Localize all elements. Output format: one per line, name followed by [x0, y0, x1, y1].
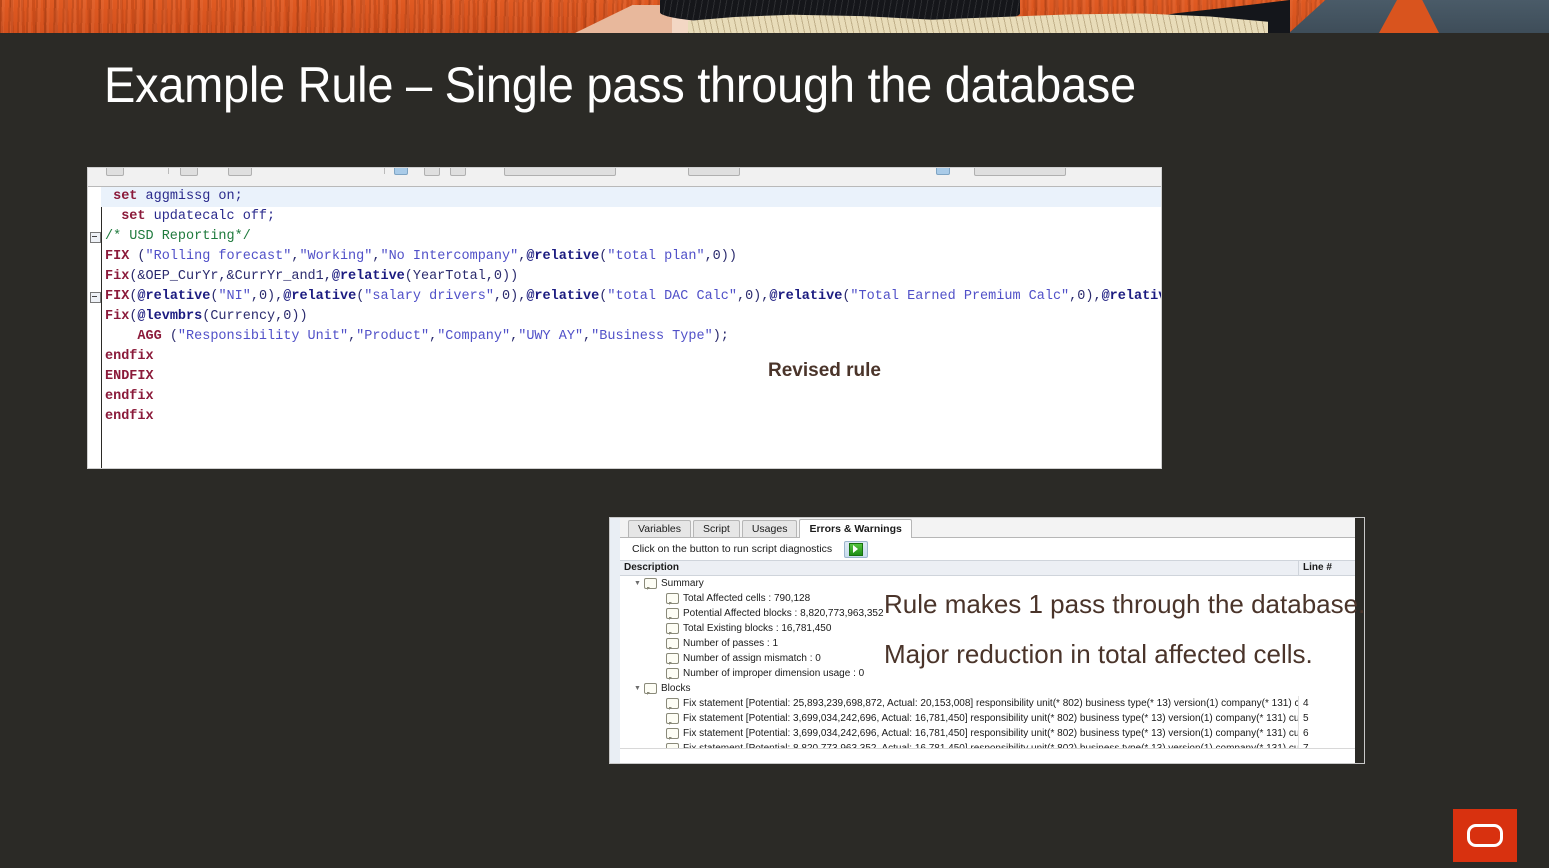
run-diagnostics-hint: Click on the button to run script diagno… [632, 543, 832, 555]
message-bubble-icon [666, 668, 679, 679]
toolbar-button [228, 168, 252, 176]
tree-row-label: ▼Blocks [620, 681, 1298, 696]
tab-variables[interactable]: Variables [628, 520, 691, 537]
tree-row-line-number: 5 [1298, 711, 1355, 726]
tab-script[interactable]: Script [693, 520, 740, 537]
column-header-line: Line # [1298, 561, 1355, 575]
code-line[interactable]: set aggmissg on; [101, 187, 1161, 207]
editor-gutter[interactable] [88, 187, 102, 468]
tree-row[interactable]: Total Existing blocks : 16,781,450 [620, 621, 1355, 636]
calc-script-editor-screenshot: set aggmissg on; set updatecalc off;/* U… [88, 168, 1161, 468]
tree-row-label: Total Existing blocks : 16,781,450 [620, 621, 1298, 636]
message-bubble-icon [666, 698, 679, 709]
code-fold-icon[interactable] [90, 232, 101, 243]
expander-icon[interactable]: ▼ [634, 576, 644, 591]
code-line[interactable]: endfix [101, 407, 1161, 427]
code-line[interactable]: FIX ("Rolling forecast","Working","No In… [101, 247, 1161, 267]
editor-toolbar [88, 168, 1161, 187]
message-bubble-icon [666, 728, 679, 739]
code-line[interactable]: AGG ("Responsibility Unit","Product","Co… [101, 327, 1161, 347]
revised-rule-label: Revised rule [768, 360, 881, 382]
message-bubble-icon [666, 608, 679, 619]
tab-errors-warnings[interactable]: Errors & Warnings [799, 519, 911, 538]
message-bubble-icon [666, 638, 679, 649]
toolbar-button-active [936, 168, 950, 175]
tree-row-line-number: 4 [1298, 696, 1355, 711]
tree-row[interactable]: Fix statement [Potential: 3,699,034,242,… [620, 711, 1355, 726]
results-column-header: Description Line # [620, 560, 1355, 576]
toolbar-button-active [394, 168, 408, 175]
oracle-logo-mark [1467, 824, 1503, 847]
toolbar-separator [384, 168, 385, 174]
expander-icon[interactable]: ▼ [634, 681, 644, 696]
tree-row-label: Fix statement [Potential: 25,893,239,698… [620, 696, 1298, 711]
code-line[interactable]: Fix(&OEP_CurYr,&CurrYr_and1,@relative(Ye… [101, 267, 1161, 287]
toolbar-button [106, 168, 124, 176]
page-title: Example Rule – Single pass through the d… [104, 55, 1326, 115]
message-bubble-icon [666, 623, 679, 634]
editor-body: set aggmissg on; set updatecalc off;/* U… [88, 187, 1161, 468]
message-bubble-icon [666, 713, 679, 724]
toolbar-button [688, 168, 740, 176]
code-line[interactable]: set updatecalc off; [101, 207, 1161, 227]
tab-usages[interactable]: Usages [742, 520, 798, 537]
panel-footer [620, 748, 1355, 763]
code-line[interactable]: FIX(@relative("NI",0),@relative("salary … [101, 287, 1161, 307]
message-bubble-icon [666, 653, 679, 664]
code-fold-icon[interactable] [90, 292, 101, 303]
panel-tab-strip[interactable]: VariablesScriptUsagesErrors & Warnings [620, 518, 1355, 538]
tree-row-label: Fix statement [Potential: 3,699,034,242,… [620, 726, 1298, 741]
toolbar-separator [168, 168, 169, 174]
code-line[interactable]: ENDFIX [101, 367, 1161, 387]
tree-row[interactable]: ▼Blocks [620, 681, 1355, 696]
code-lines[interactable]: set aggmissg on; set updatecalc off;/* U… [101, 187, 1161, 468]
tree-row-line-number: 6 [1298, 726, 1355, 741]
toolbar-button [424, 168, 440, 176]
code-line[interactable]: Fix(@levmbrs(Currency,0)) [101, 307, 1161, 327]
tree-row[interactable]: Fix statement [Potential: 3,699,034,242,… [620, 726, 1355, 741]
run-diagnostics-row: Click on the button to run script diagno… [620, 538, 1355, 560]
message-bubble-icon [666, 593, 679, 604]
toolbar-button [450, 168, 466, 176]
toolbar-button [180, 168, 198, 176]
toolbar-combobox [504, 168, 616, 176]
message-bubble-icon [644, 578, 657, 589]
decorative-header-banner [0, 0, 1549, 33]
annotation-line-1: Rule makes 1 pass through the database. [884, 589, 1365, 620]
code-line[interactable]: endfix [101, 387, 1161, 407]
tree-row[interactable]: Fix statement [Potential: 25,893,239,698… [620, 696, 1355, 711]
panel-right-edge [1355, 518, 1364, 763]
message-bubble-icon [644, 683, 657, 694]
oracle-logo [1453, 809, 1517, 862]
column-header-description: Description [620, 561, 1298, 575]
toolbar-combobox [974, 168, 1066, 176]
run-play-icon[interactable] [844, 541, 868, 558]
annotation-line-2: Major reduction in total affected cells. [884, 639, 1313, 670]
code-line[interactable]: endfix [101, 347, 1161, 367]
tree-row-label: Fix statement [Potential: 3,699,034,242,… [620, 711, 1298, 726]
code-line[interactable]: /* USD Reporting*/ [101, 227, 1161, 247]
